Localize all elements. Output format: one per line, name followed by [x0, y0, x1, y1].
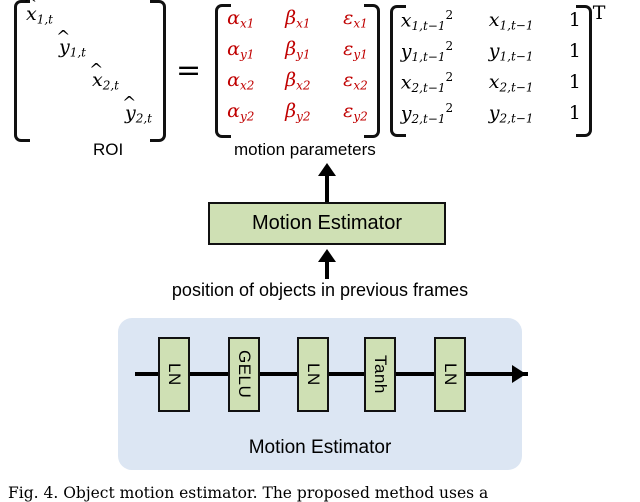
- param-symbol: β: [285, 7, 296, 29]
- history-linear-cell: y2,t−1: [489, 104, 567, 124]
- param-cell: αx1: [227, 9, 285, 29]
- history-exponent: 2: [445, 8, 453, 22]
- pipeline-block-gelu[interactable]: GELU: [228, 337, 260, 412]
- param-cell: αx2: [227, 71, 285, 91]
- matrix-row: x1,t−12 x1,t−1 1: [401, 9, 581, 40]
- history-subscript: 2,t−1: [500, 112, 534, 126]
- param-cells: αx1 βx1 εx1 αy1 βy1 εy1 αx2 βx2 εx2 αy2 …: [215, 4, 380, 138]
- matrix-row: ^x1,t: [26, 5, 152, 38]
- param-symbol: ε: [343, 38, 353, 60]
- history-base: x: [489, 9, 500, 31]
- history-exponent: 2: [445, 70, 453, 84]
- roi-cell: ^y2,t: [125, 104, 152, 124]
- pipeline-panel-label: Motion Estimator: [118, 437, 522, 459]
- pipeline-block-ln-2[interactable]: LN: [297, 337, 329, 412]
- hat-accent: ^: [89, 62, 103, 79]
- roi-subscript: 2,t: [103, 78, 119, 92]
- param-symbol: β: [285, 69, 296, 91]
- history-linear-cell: x2,t−1: [489, 73, 567, 93]
- pipeline-output-arrow-head: [512, 365, 526, 383]
- bracket-right: [576, 5, 592, 137]
- roi-cell: ^x1,t: [26, 5, 53, 25]
- param-subscript: y1: [296, 47, 310, 61]
- bracket-right: [364, 4, 380, 138]
- param-symbol: ε: [343, 100, 353, 122]
- param-subscript: x1: [240, 16, 254, 30]
- param-cell: βx1: [285, 9, 343, 29]
- equation-row: ^x1,t ^y1,t ^x2,t ^y2,t = αx1 βx1 εx1: [0, 0, 640, 142]
- param-subscript: x2: [240, 78, 254, 92]
- history-base: y: [489, 40, 500, 62]
- pipeline-connector-line: [135, 372, 528, 376]
- param-symbol: β: [285, 100, 296, 122]
- history-subscript: 1,t−1: [500, 19, 534, 33]
- arrow-up-shaft-to-box: [325, 261, 329, 279]
- matrix-row: αy1 βy1 εy1: [227, 40, 368, 71]
- history-exponent: 2: [445, 101, 453, 115]
- bracket-right: [150, 0, 166, 142]
- history-linear-cell: x1,t−1: [489, 11, 567, 31]
- pipeline-block-label: LN: [164, 363, 184, 386]
- history-exponent: 2: [445, 39, 453, 53]
- history-subscript: 1,t−1: [412, 19, 446, 33]
- roi-subscript: 1,t: [70, 45, 86, 59]
- hat-accent: ^: [122, 95, 136, 112]
- param-cell: αy1: [227, 40, 285, 60]
- history-base: y: [489, 102, 500, 124]
- roi-cell: ^x2,t: [92, 71, 119, 91]
- param-subscript: y2: [240, 109, 254, 123]
- matrix-row: αy2 βy2 εy2: [227, 102, 368, 133]
- figure-caption: Fig. 4. Object motion estimator. The pro…: [8, 484, 636, 502]
- pipeline-block-label: LN: [303, 363, 323, 386]
- history-subscript: 2,t−1: [500, 81, 534, 95]
- position-history-matrix: x1,t−12 x1,t−1 1 y1,t−12 y1,t−1 1 x2,t−1…: [390, 5, 592, 137]
- param-cell: αy2: [227, 102, 285, 122]
- history-subscript: 1,t−1: [412, 50, 446, 64]
- pipeline-block-ln-3[interactable]: LN: [434, 337, 466, 412]
- hat-accent: ^: [23, 0, 37, 13]
- matrix-row: ^y2,t: [26, 104, 152, 137]
- transpose-superscript: T: [593, 2, 606, 24]
- bracket-left: [215, 4, 231, 138]
- param-cell: βy2: [285, 102, 343, 122]
- param-subscript: x1: [296, 16, 310, 30]
- param-symbol: β: [285, 38, 296, 60]
- roi-cells: ^x1,t ^y1,t ^x2,t ^y2,t: [14, 0, 166, 142]
- roi-matrix: ^x1,t ^y1,t ^x2,t ^y2,t: [14, 0, 166, 142]
- matrix-row: αx2 βx2 εx2: [227, 71, 368, 102]
- bracket-left: [390, 5, 406, 137]
- motion-parameters-label: motion parameters: [234, 140, 376, 160]
- motion-parameter-matrix: αx1 βx1 εx1 αy1 βy1 εy1 αx2 βx2 εx2 αy2 …: [215, 4, 380, 138]
- param-subscript: y1: [240, 47, 254, 61]
- motion-estimator-box[interactable]: Motion Estimator: [208, 202, 446, 245]
- history-squared-cell: y2,t−12: [401, 102, 489, 125]
- history-squared-cell: x1,t−12: [401, 9, 489, 32]
- pipeline-block-label: GELU: [234, 350, 254, 398]
- hat-accent: ^: [56, 29, 70, 46]
- motion-estimator-box-label: Motion Estimator: [252, 212, 402, 235]
- history-subscript: 1,t−1: [500, 50, 534, 64]
- pipeline-block-tanh[interactable]: Tanh: [364, 337, 396, 412]
- history-squared-cell: y1,t−12: [401, 40, 489, 63]
- history-cells: x1,t−12 x1,t−1 1 y1,t−12 y1,t−1 1 x2,t−1…: [390, 5, 592, 137]
- history-subscript: 2,t−1: [412, 81, 446, 95]
- equals-sign: =: [176, 56, 201, 86]
- history-base: x: [489, 71, 500, 93]
- history-linear-cell: y1,t−1: [489, 42, 567, 62]
- param-symbol: ε: [343, 69, 353, 91]
- param-subscript: y2: [296, 109, 310, 123]
- matrix-row: αx1 βx1 εx1: [227, 9, 368, 40]
- param-cell: βx2: [285, 71, 343, 91]
- roi-cell: ^y1,t: [59, 38, 86, 58]
- roi-subscript: 1,t: [37, 12, 53, 26]
- history-subscript: 2,t−1: [412, 112, 446, 126]
- roi-label: ROI: [93, 140, 123, 160]
- pipeline-block-ln-1[interactable]: LN: [158, 337, 190, 412]
- param-symbol: ε: [343, 7, 353, 29]
- position-input-caption: position of objects in previous frames: [0, 280, 640, 301]
- matrix-row: x2,t−12 x2,t−1 1: [401, 71, 581, 102]
- pipeline-block-label: Tanh: [370, 355, 390, 394]
- history-squared-cell: x2,t−12: [401, 71, 489, 94]
- matrix-row: y2,t−12 y2,t−1 1: [401, 102, 581, 133]
- arrow-up-shaft-to-params: [325, 175, 329, 203]
- param-cell: βy1: [285, 40, 343, 60]
- param-subscript: x2: [296, 78, 310, 92]
- pipeline-block-label: LN: [440, 363, 460, 386]
- matrix-row: y1,t−12 y1,t−1 1: [401, 40, 581, 71]
